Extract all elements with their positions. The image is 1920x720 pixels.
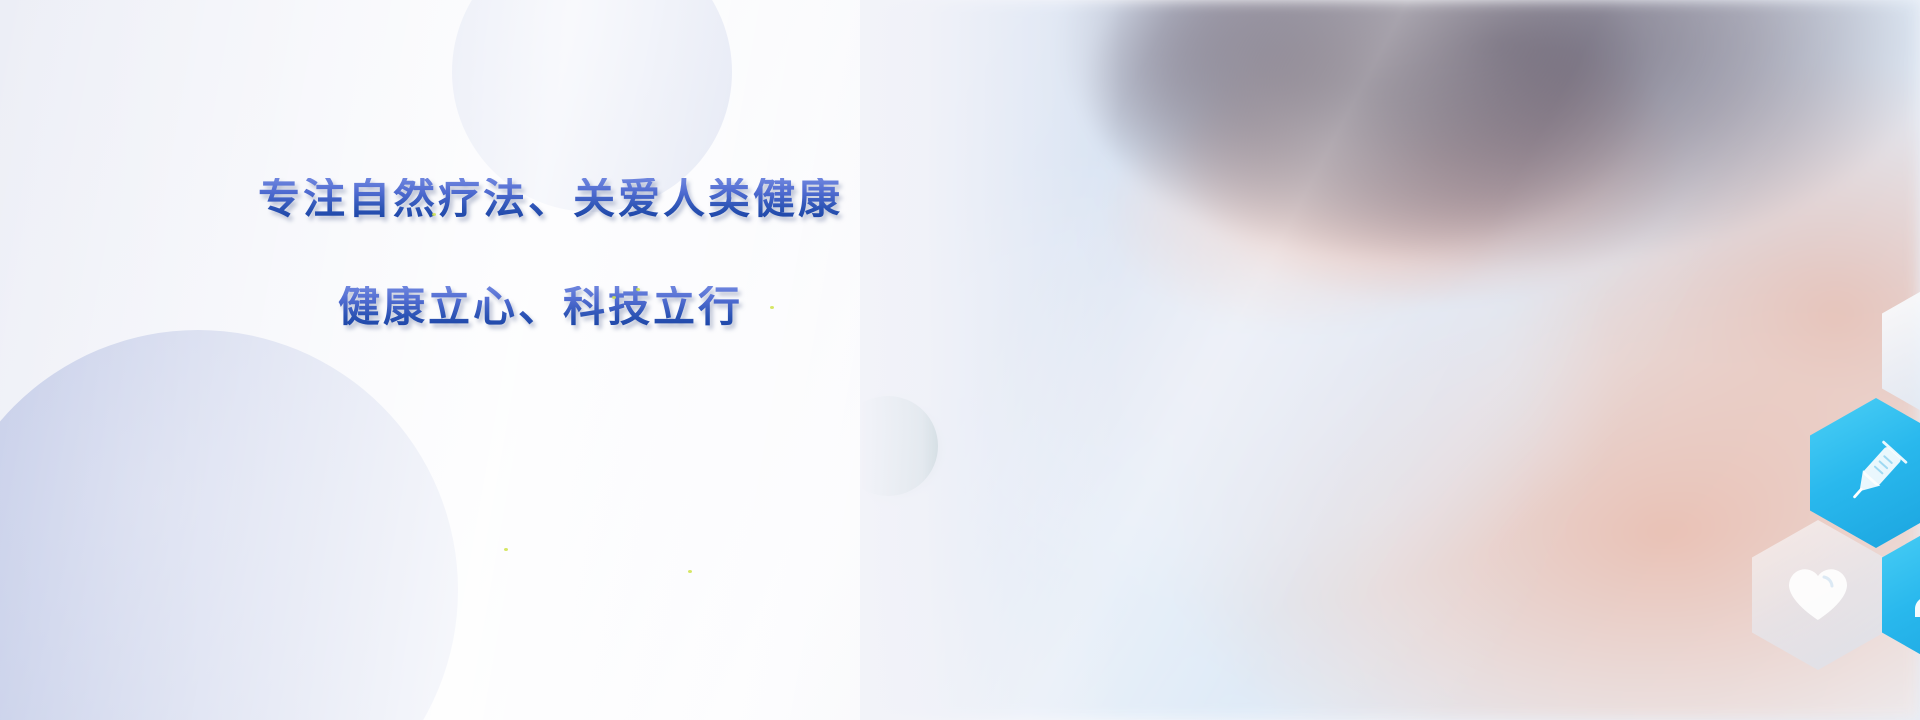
sparkle-dot — [636, 288, 640, 291]
heart-icon — [1785, 565, 1851, 625]
decorative-circle-bottom — [0, 330, 458, 720]
headline-block: 专注自然疗法、关爱人类健康 健康立心、科技立行 — [258, 178, 878, 328]
headline-line-1: 专注自然疗法、关爱人类健康 — [258, 178, 878, 220]
photo-left-fade — [860, 0, 1120, 720]
hero-image-panel — [860, 0, 1920, 720]
sparkle-dot — [432, 213, 436, 216]
sparkle-dot — [770, 306, 774, 309]
people-group-icon — [1913, 567, 1920, 623]
hero-banner: 专注自然疗法、关爱人类健康 健康立心、科技立行 — [0, 0, 1920, 720]
sparkle-dot — [504, 548, 508, 551]
syringe-icon — [1840, 437, 1912, 509]
headline-line-2: 健康立心、科技立行 — [338, 286, 878, 328]
sparkle-dot — [688, 570, 692, 573]
sparkle-dot — [612, 296, 616, 299]
